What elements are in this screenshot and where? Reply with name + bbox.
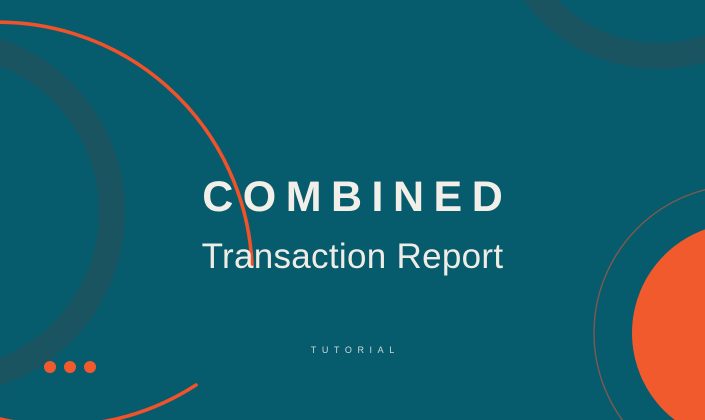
dot-icon — [44, 361, 56, 373]
eyebrow-label: TUTORIAL — [0, 346, 705, 355]
page-title: COMBINED — [0, 176, 705, 219]
dots-decoration — [44, 361, 96, 373]
slide-content: COMBINED Transaction Report TUTORIAL — [0, 0, 705, 420]
dot-icon — [64, 361, 76, 373]
page-subtitle: Transaction Report — [0, 239, 705, 274]
presentation-slide: COMBINED Transaction Report TUTORIAL — [0, 0, 705, 420]
dot-icon — [84, 361, 96, 373]
